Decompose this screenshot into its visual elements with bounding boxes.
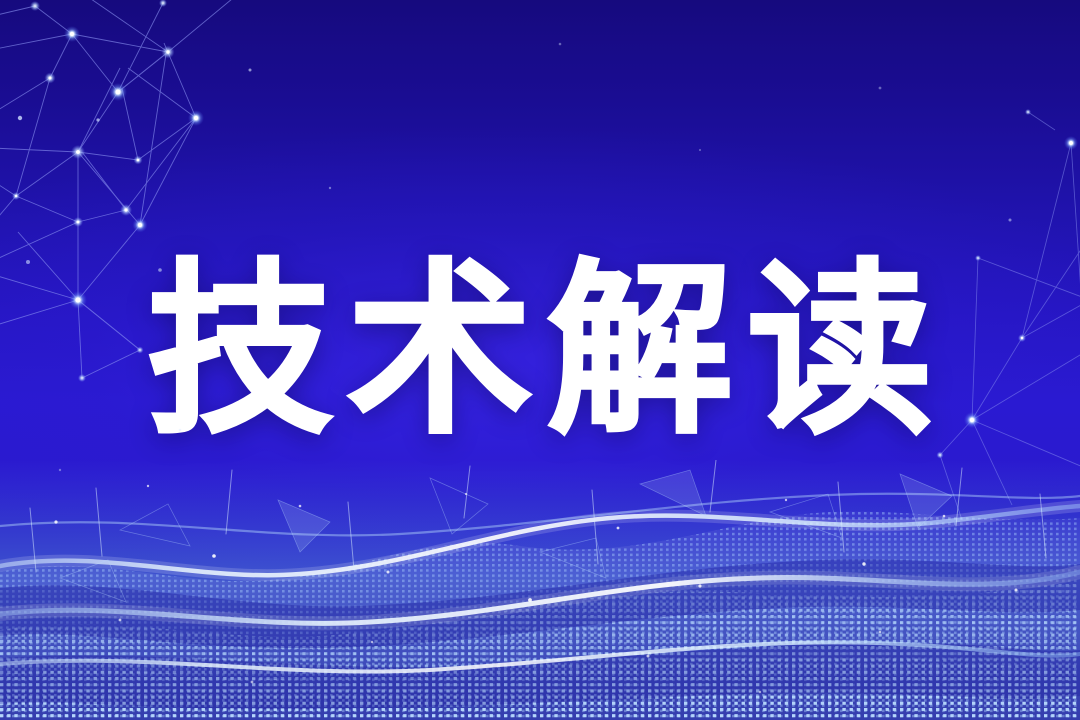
technology-interpretation-banner: 技术解读: [0, 0, 1080, 720]
particle-wave-field: [0, 460, 1080, 720]
particle-wave-svg: [0, 460, 1080, 720]
